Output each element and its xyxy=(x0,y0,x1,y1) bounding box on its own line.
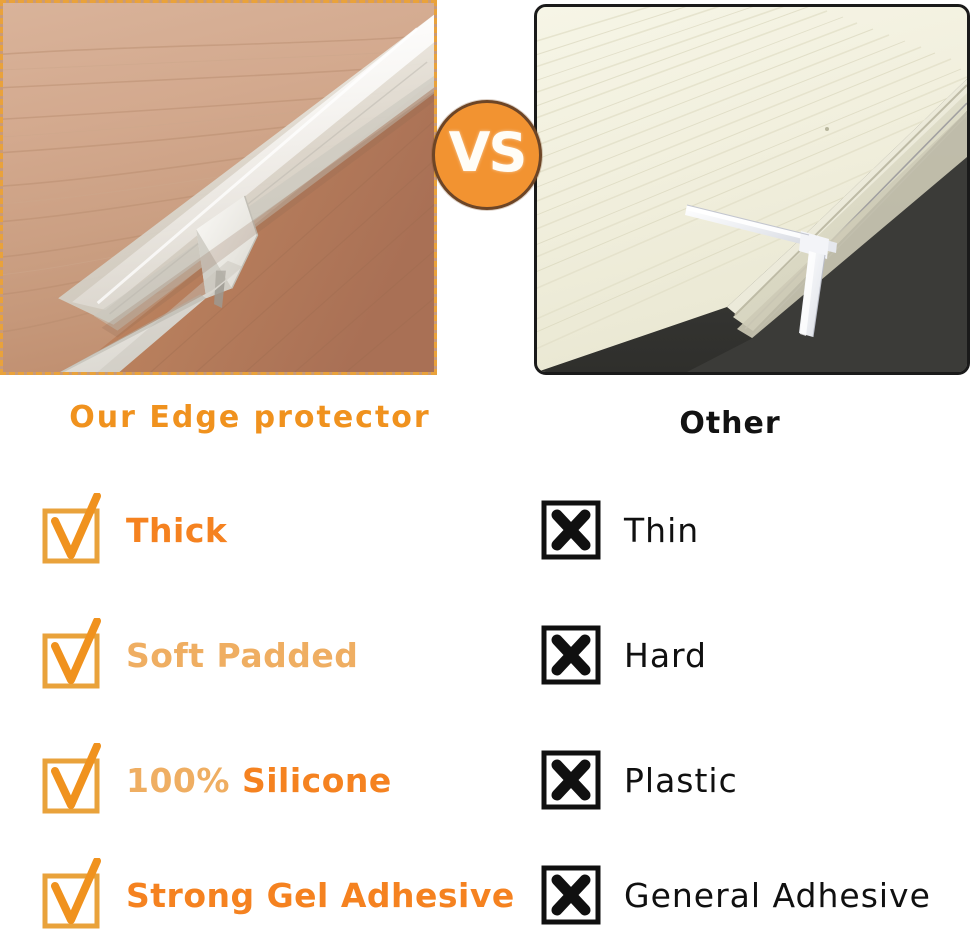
check-box-icon xyxy=(40,493,104,567)
cross-box-icon xyxy=(540,500,602,560)
check-box-icon xyxy=(40,743,104,817)
vs-badge-label: VS xyxy=(449,126,526,180)
row-cell-other: General Adhesive xyxy=(540,845,973,945)
comparison-row: 100% Silicone Plastic xyxy=(0,730,973,830)
row-cell-ours: Strong Gel Adhesive xyxy=(0,845,540,945)
label-part: 100% xyxy=(126,761,230,800)
cross-box-icon xyxy=(540,750,602,810)
label-part: Soft Padded xyxy=(126,636,358,675)
row-label-other: General Adhesive xyxy=(624,879,931,912)
column-header-ours: Our Edge protector xyxy=(60,400,440,435)
row-label-ours: Thick xyxy=(126,514,227,547)
label-part: Thick xyxy=(126,511,227,550)
our-photo-art xyxy=(3,3,434,372)
label-part: Strong Gel Adhesive xyxy=(126,876,515,915)
row-cell-other: Thin xyxy=(540,480,973,580)
row-label-other: Thin xyxy=(624,514,699,547)
check-box-icon xyxy=(40,618,104,692)
comparison-row: Strong Gel Adhesive General Adhesive xyxy=(0,845,973,945)
cross-box-icon xyxy=(540,625,602,685)
other-photo-art xyxy=(537,7,967,372)
comparison-infographic: VS xyxy=(0,0,973,928)
our-edge-protector-photo xyxy=(0,0,437,375)
row-cell-ours: Soft Padded xyxy=(0,605,540,705)
row-cell-other: Plastic xyxy=(540,730,973,830)
comparison-row: Thick Thin xyxy=(0,480,973,580)
check-box-icon xyxy=(40,858,104,932)
row-label-other: Plastic xyxy=(624,764,738,797)
comparison-row: Soft Padded Hard xyxy=(0,605,973,705)
row-cell-ours: Thick xyxy=(0,480,540,580)
label-part: Silicone xyxy=(242,761,392,800)
column-header-other: Other xyxy=(600,406,860,441)
row-cell-other: Hard xyxy=(540,605,973,705)
row-label-ours: 100% Silicone xyxy=(126,764,392,797)
comparison-rows: Thick Thin Soft Padded xyxy=(0,470,973,928)
vs-badge: VS xyxy=(432,100,542,210)
other-edge-protector-photo xyxy=(534,4,970,375)
row-label-ours: Soft Padded xyxy=(126,639,358,672)
row-label-other: Hard xyxy=(624,639,707,672)
row-cell-ours: 100% Silicone xyxy=(0,730,540,830)
row-label-ours: Strong Gel Adhesive xyxy=(126,879,515,912)
cross-box-icon xyxy=(540,865,602,925)
